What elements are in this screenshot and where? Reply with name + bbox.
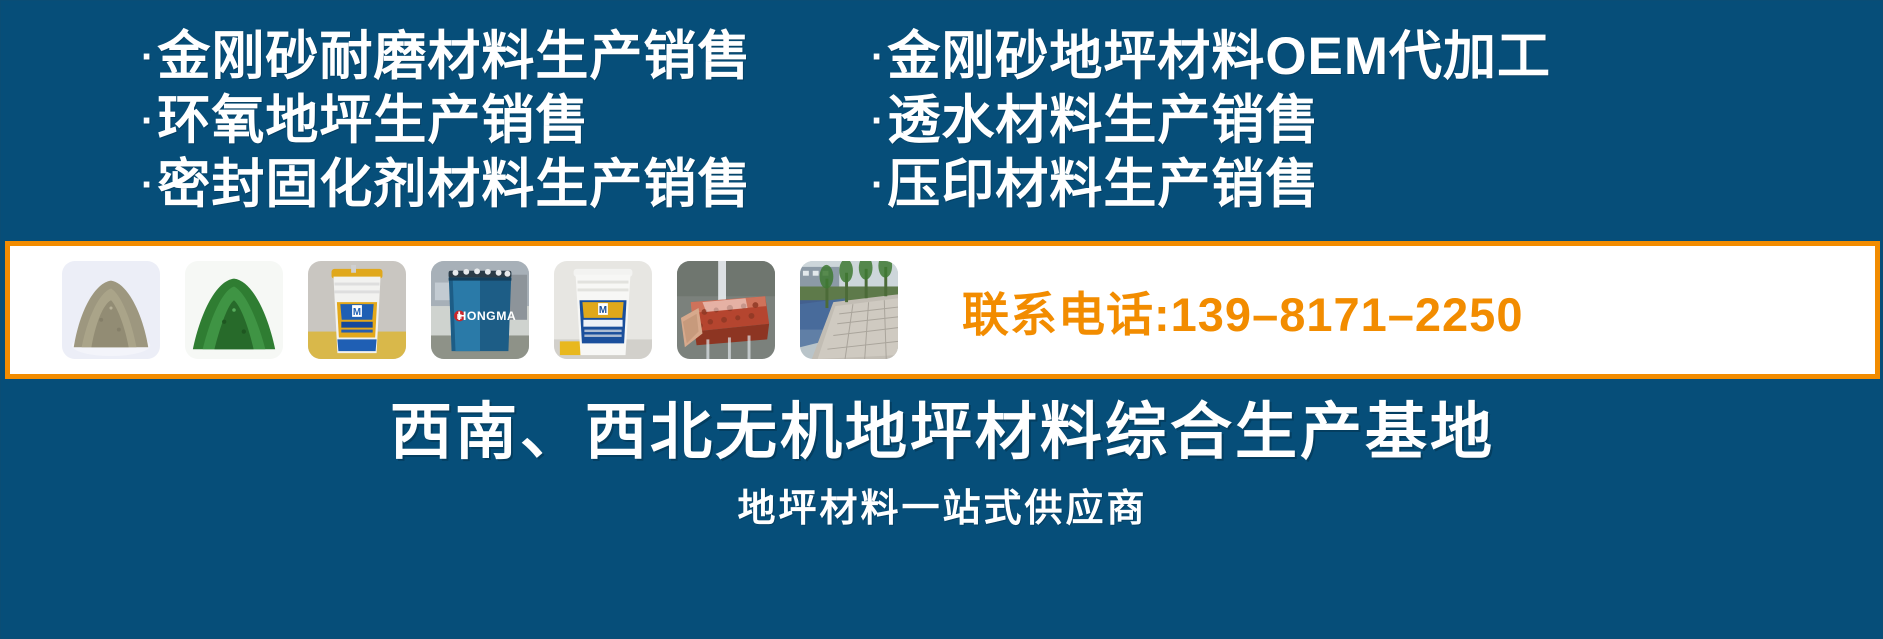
permeable-concrete-block-photo xyxy=(677,261,775,359)
contact-phone[interactable]: 联系电话:139–8171–2250 xyxy=(962,276,1523,345)
feature-list: · 金刚砂耐磨材料生产销售 · 环氧地坪生产销售 · 密封固化剂材料生产销售 ·… xyxy=(1,29,1883,234)
svg-text:M: M xyxy=(353,307,361,318)
grey-hardener-powder-photo xyxy=(62,261,160,359)
feature-item-label: 透水材料生产销售 xyxy=(887,93,1319,149)
bullet-icon: · xyxy=(871,157,885,213)
page-title: 西南、西北无机地坪材料综合生产基地 xyxy=(390,393,1495,473)
svg-text:HONGMA: HONGMA xyxy=(457,309,516,323)
bullet-icon: · xyxy=(141,29,155,85)
feature-item: · 透水材料生产销售 xyxy=(871,93,1883,153)
feature-item-label: 金刚砂地坪材料OEM代加工 xyxy=(887,29,1551,85)
bullet-icon: · xyxy=(871,29,885,85)
bullet-icon: · xyxy=(141,157,155,213)
feature-item: · 压印材料生产销售 xyxy=(871,157,1883,217)
page-subtitle: 地坪材料一站式供应商 xyxy=(737,483,1147,535)
product-thumbnail-list: M xyxy=(10,261,898,359)
promotional-banner: · 金刚砂耐磨材料生产销售 · 环氧地坪生产销售 · 密封固化剂材料生产销售 ·… xyxy=(0,0,1883,639)
feature-column-left: · 金刚砂耐磨材料生产销售 · 环氧地坪生产销售 · 密封固化剂材料生产销售 xyxy=(1,29,861,221)
green-hardener-powder-photo xyxy=(185,261,283,359)
sealer-bucket-photo: M xyxy=(308,261,406,359)
bullet-icon: · xyxy=(141,93,155,149)
feature-item-label: 环氧地坪生产销售 xyxy=(157,93,589,149)
feature-item-label: 压印材料生产销售 xyxy=(887,157,1319,213)
feature-column-right: · 金刚砂地坪材料OEM代加工 · 透水材料生产销售 · 压印材料生产销售 xyxy=(861,29,1883,221)
epoxy-coating-bucket-photo: M xyxy=(554,261,652,359)
feature-item-label: 金刚砂耐磨材料生产销售 xyxy=(157,29,751,85)
bottom-heading-block: 西南、西北无机地坪材料综合生产基地 地坪材料一站式供应商 xyxy=(1,381,1883,639)
stamped-concrete-path-photo xyxy=(800,261,898,359)
feature-item: · 金刚砂地坪材料OEM代加工 xyxy=(871,29,1883,89)
bullet-icon: · xyxy=(871,93,885,149)
product-strip: M xyxy=(5,241,1880,379)
svg-text:M: M xyxy=(599,305,607,316)
feature-item: · 金刚砂耐磨材料生产销售 xyxy=(141,29,861,89)
hongma-drum-photo: H HONGMA xyxy=(431,261,529,359)
feature-item: · 环氧地坪生产销售 xyxy=(141,93,861,153)
feature-item: · 密封固化剂材料生产销售 xyxy=(141,157,861,217)
feature-item-label: 密封固化剂材料生产销售 xyxy=(157,157,751,213)
